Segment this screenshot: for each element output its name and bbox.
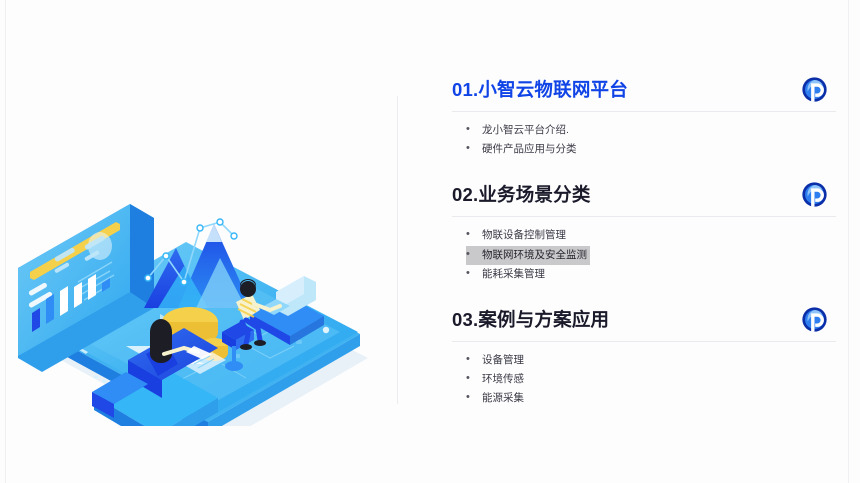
- list-item: 设备管理: [466, 351, 836, 370]
- section-header-01: 01.小智云物联网平台: [452, 72, 836, 106]
- brand-circle-d-icon: [801, 306, 828, 333]
- agenda-sections: 01.小智云物联网平台 龙小智云平台介绍. 硬件产品应用与分类 0: [452, 72, 836, 408]
- list-item: 能耗采集管理: [466, 265, 836, 284]
- section-title-03: 03.案例与方案应用: [452, 306, 609, 332]
- section-bullets-02: 物联设备控制管理 物联网环境及安全监测 能耗采集管理: [452, 226, 836, 284]
- section-bullets-03: 设备管理 环境传感 能源采集: [452, 351, 836, 408]
- section-title-01: 01.小智云物联网平台: [452, 76, 628, 102]
- list-item: 龙小智云平台介绍.: [466, 121, 836, 140]
- page-frame-right-border: [848, 0, 849, 483]
- list-item: 物联设备控制管理: [466, 226, 836, 245]
- agenda-section-03: 03.案例与方案应用 设备管理 环境传感 能源采集: [452, 302, 836, 408]
- isometric-iot-illustration: [8, 96, 393, 426]
- section-rule-03: [452, 341, 836, 342]
- agenda-section-02: 02.业务场景分类 物联设备控制管理 物联网环境及安全监测 能耗采集管理: [452, 177, 836, 284]
- section-bullets-01: 龙小智云平台介绍. 硬件产品应用与分类: [452, 121, 836, 159]
- section-header-03: 03.案例与方案应用: [452, 302, 836, 336]
- agenda-section-01: 01.小智云物联网平台 龙小智云平台介绍. 硬件产品应用与分类: [452, 72, 836, 159]
- section-header-02: 02.业务场景分类: [452, 177, 836, 211]
- brand-circle-d-icon: [801, 181, 828, 208]
- section-title-02: 02.业务场景分类: [452, 181, 591, 207]
- mountain-area-chart: [144, 219, 252, 308]
- list-item-selected: 物联网环境及安全监测: [466, 246, 590, 265]
- list-item: 环境传感: [466, 370, 836, 389]
- section-rule-02: [452, 216, 836, 217]
- slide-canvas: 01.小智云物联网平台 龙小智云平台介绍. 硬件产品应用与分类 0: [0, 0, 860, 483]
- page-frame-left-border: [5, 0, 6, 483]
- list-item: 硬件产品应用与分类: [466, 140, 836, 159]
- section-rule-01: [452, 111, 836, 112]
- list-item: 能源采集: [466, 389, 836, 408]
- vertical-divider: [397, 96, 398, 404]
- brand-circle-d-icon: [801, 76, 828, 103]
